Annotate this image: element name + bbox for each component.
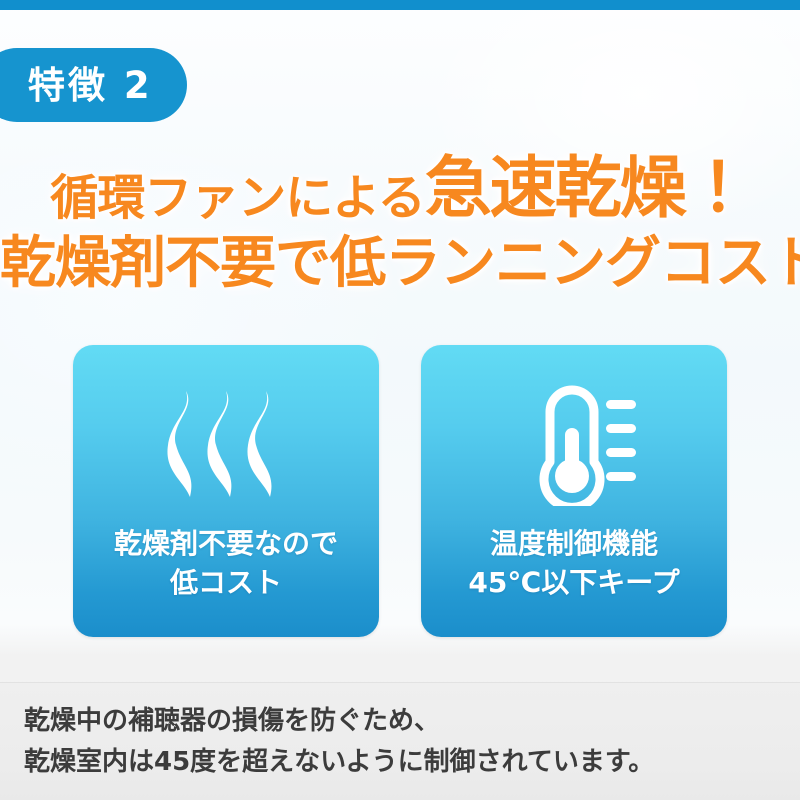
feature-badge: 特徴 2 [0,48,187,122]
headline-block: 循環ファンによる急速乾燥！ 乾燥剤不要で低ランニングコスト [0,142,800,292]
caption-line-1: 温度制御機能 [468,525,679,564]
feature-card-low-cost: 乾燥剤不要なので 低コスト [73,345,379,637]
steam-waves-icon [162,379,290,511]
headline-line-1-small: 循環ファンによる [50,174,425,222]
caption-line-2: 低コスト [114,564,338,603]
footer-note-line-2: 乾燥室内は45度を超えないように制御されています。 [24,742,800,783]
headline-line-1-emphasis: 急速乾燥！ [425,155,750,222]
headline-line-1: 循環ファンによる急速乾燥！ [0,142,800,222]
feature-card-temperature-caption: 温度制御機能 45℃以下キープ [468,525,679,602]
footer-note: 乾燥中の補聴器の損傷を防ぐため、 乾燥室内は45度を超えないように制御されていま… [0,682,800,800]
feature-badge-label: 特徴 2 [28,67,153,104]
feature-card-temperature: 温度制御機能 45℃以下キープ [421,345,727,637]
promo-page: 特徴 2 循環ファンによる急速乾燥！ 乾燥剤不要で低ランニングコスト 乾燥剤不要… [0,0,800,800]
feature-card-low-cost-caption: 乾燥剤不要なので 低コスト [114,525,338,602]
caption-line-2: 45℃以下キープ [468,564,679,603]
top-accent-bar [0,0,800,10]
feature-cards: 乾燥剤不要なので 低コスト [73,345,727,637]
thermometer-icon [510,379,638,511]
footer-note-line-1: 乾燥中の補聴器の損傷を防ぐため、 [24,701,800,742]
headline-line-2: 乾燥剤不要で低ランニングコスト [0,236,800,292]
caption-line-1: 乾燥剤不要なので [114,525,338,564]
